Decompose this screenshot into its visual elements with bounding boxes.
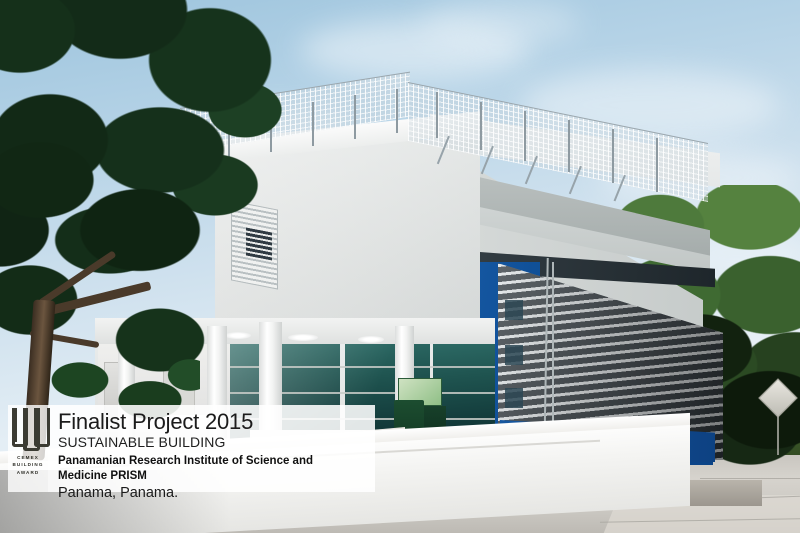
ceiling-light bbox=[288, 334, 318, 341]
concrete-block bbox=[690, 480, 762, 506]
caption-location: Panama, Panama. bbox=[58, 484, 365, 502]
badge-line-1: CEMEX bbox=[17, 455, 39, 461]
paving-seam bbox=[700, 478, 800, 479]
badge-line-3: AWARD bbox=[17, 470, 40, 476]
railing-mesh bbox=[408, 82, 708, 202]
caption-subtitle: SUSTAINABLE BUILDING bbox=[58, 434, 365, 450]
caption-overlay: Finalist Project 2015 SUSTAINABLE BUILDI… bbox=[48, 405, 375, 492]
window bbox=[505, 388, 523, 408]
cemex-award-badge: CEMEX BUILDING AWARD bbox=[8, 405, 48, 492]
window bbox=[505, 345, 523, 365]
caption-organization: Panamanian Research Institute of Science… bbox=[58, 454, 365, 484]
architectural-photograph: Finalist Project 2015 SUSTAINABLE BUILDI… bbox=[0, 0, 800, 533]
badge-line-2: BUILDING bbox=[12, 462, 43, 468]
ceiling-light bbox=[358, 336, 384, 343]
cloud bbox=[420, 0, 580, 46]
cemex-award-emblem-icon bbox=[11, 408, 45, 454]
caption-title: Finalist Project 2015 bbox=[58, 410, 365, 434]
window bbox=[505, 300, 523, 320]
